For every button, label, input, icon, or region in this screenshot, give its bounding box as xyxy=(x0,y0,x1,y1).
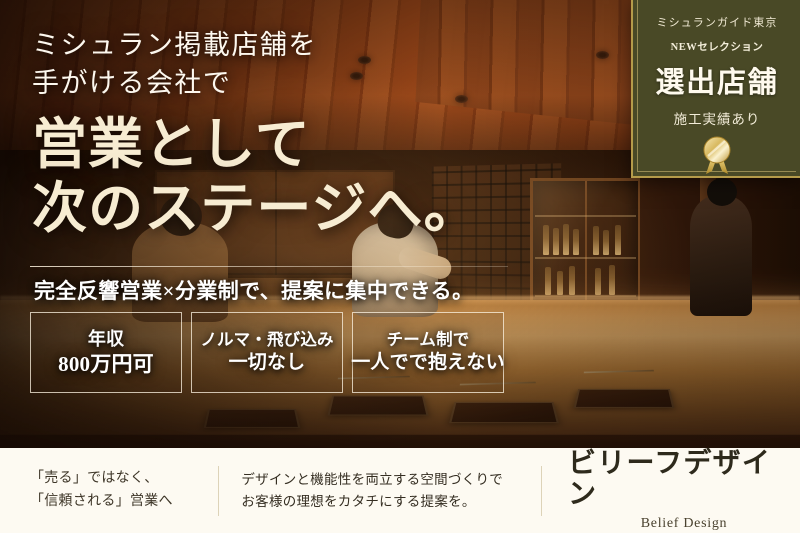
michelin-selection-badge: ミシュランガイド東京 NEWセレクション 選出店舗 施工実績あり xyxy=(631,0,800,178)
brand-name-en: Belief Design xyxy=(568,516,800,532)
badge-main-label: 選出店舗 xyxy=(656,59,779,101)
footer-description-line-1: デザインと機能性を両立する空間づくりで xyxy=(241,469,541,491)
feature-line-2: 800万円可 xyxy=(58,351,154,378)
feature-line-2: 一切なし xyxy=(229,351,306,376)
feature-box-list: 年収 800万円可 ノルマ・飛び込み 一切なし チーム制で 一人でで抱えない xyxy=(30,312,504,393)
badge-record-label: 施工実績あり xyxy=(674,108,761,128)
feature-box-no-quota: ノルマ・飛び込み 一切なし xyxy=(191,312,343,393)
badge-guide-label: ミシュランガイド東京 xyxy=(657,14,778,30)
hero-kicker: ミシュラン掲載店舗を 手がける会社で xyxy=(32,26,652,103)
footer-tagline-line-2: 「信頼される」営業へ xyxy=(30,491,218,514)
brand-name-jp: ビリーフデザイン xyxy=(568,449,800,511)
footer-bar: 「売る」ではなく、 「信頼される」営業へ デザインと機能性を両立する空間づくりで… xyxy=(0,448,800,533)
hero-copy-block: ミシュラン掲載店舗を 手がける会社で 営業として 次のステージへ。 xyxy=(32,26,652,241)
feature-line-2: 一人でで抱えない xyxy=(351,351,505,376)
feature-box-team: チーム制で 一人でで抱えない xyxy=(352,312,504,393)
feature-line-1: チーム制で xyxy=(387,329,470,351)
footer-tagline-block: 「売る」ではなく、 「信頼される」営業へ xyxy=(0,466,218,516)
hero-headline: 営業として 次のステージへ。 xyxy=(32,113,652,242)
brand-block: ビリーフデザイン Belief Design xyxy=(542,466,800,516)
feature-box-salary: 年収 800万円可 xyxy=(30,312,182,393)
badge-selection-label: NEWセレクション xyxy=(671,39,764,54)
footer-description-block: デザインと機能性を両立する空間づくりで お客様の理想をカタチにする提案を。 xyxy=(219,466,541,516)
recruitment-banner: ミシュラン掲載店舗を 手がける会社で 営業として 次のステージへ。 完全反響営業… xyxy=(0,0,800,533)
gold-medal-ribbon-icon xyxy=(698,135,736,178)
footer-tagline-line-1: 「売る」ではなく、 xyxy=(30,468,218,491)
headline-divider xyxy=(30,266,508,267)
footer-description-line-2: お客様の理想をカタチにする提案を。 xyxy=(241,491,541,513)
feature-line-1: 年収 xyxy=(88,327,124,351)
feature-line-1: ノルマ・飛び込み xyxy=(200,329,333,351)
hero-subline: 完全反響営業×分業制で、提案に集中できる。 xyxy=(34,275,474,305)
